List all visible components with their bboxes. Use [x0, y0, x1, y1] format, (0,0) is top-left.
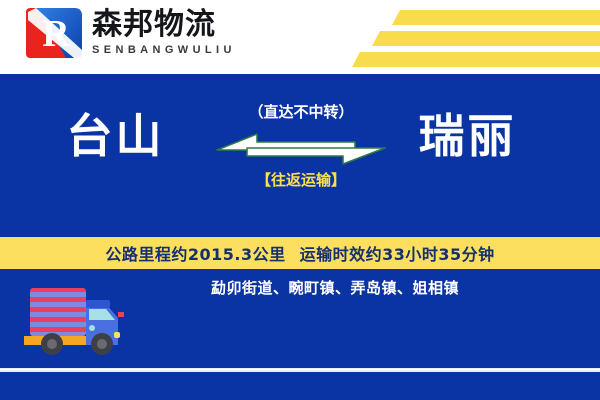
logo-letter-r-icon: R [26, 8, 82, 58]
duration-label: 运输时效约33小时35分钟 [300, 241, 495, 265]
poster-body: 台山 （直达不中转） 【往返运输】 瑞丽 公路里程约2015.3公里 [0, 74, 600, 400]
origin-city: 台山 [18, 108, 213, 164]
bottom-divider-highlight [0, 369, 600, 370]
svg-text:R: R [42, 13, 70, 55]
logistics-route-poster: R 森邦物流 SENBANGWULIU 台山 （直达不中转） [0, 0, 600, 400]
poster-header: R 森邦物流 SENBANGWULIU [0, 0, 600, 74]
brand-logo: R 森邦物流 SENBANGWULIU [26, 8, 236, 58]
brand-name-cn: 森邦物流 [92, 9, 236, 41]
destination-city: 瑞丽 [370, 108, 565, 164]
brand-wordmark: 森邦物流 SENBANGWULIU [92, 9, 236, 57]
route-row: 台山 （直达不中转） 【往返运输】 瑞丽 [0, 74, 600, 237]
bottom-divider [0, 368, 600, 372]
coverage-areas: 勐卯街道、畹町镇、弄岛镇、姐相镇 [100, 277, 570, 299]
route-middle: （直达不中转） 【往返运输】 [215, 102, 387, 222]
brand-name-en: SENBANGWULIU [92, 43, 236, 57]
decorative-stripe-3 [352, 52, 600, 67]
decorative-stripe-1 [392, 10, 600, 25]
distance-label: 公路里程约2015.3公里 [105, 241, 285, 265]
roundtrip-note: 【往返运输】 [215, 170, 387, 190]
decorative-stripe-2 [372, 31, 600, 46]
route-info-bar: 公路里程约2015.3公里 运输时效约33小时35分钟 [0, 237, 600, 269]
direct-shipping-note: （直达不中转） [215, 102, 387, 122]
logo-mark-icon: R [26, 8, 82, 58]
double-arrow-icon [215, 128, 387, 166]
